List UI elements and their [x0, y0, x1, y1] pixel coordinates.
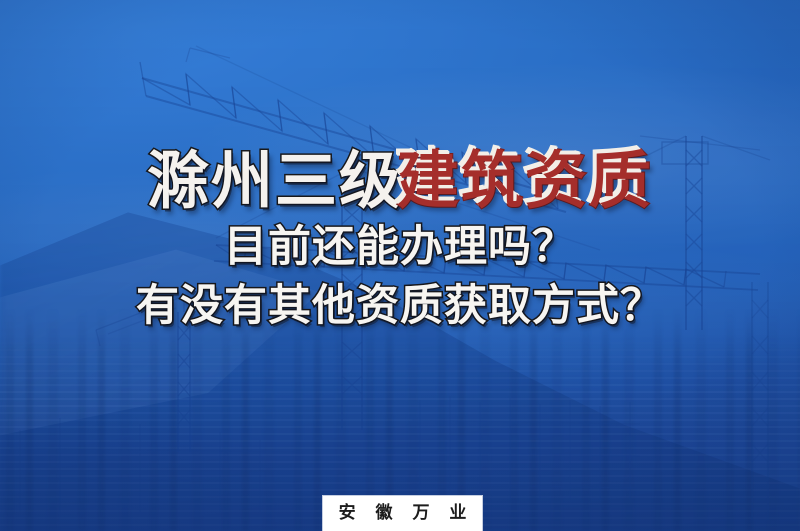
brand-plate: 安 徽 万 业	[323, 496, 482, 531]
poster-canvas: 滁州三级建筑资质 目前还能办理吗？ 有没有其他资质获取方式？ 安 徽 万 业	[0, 0, 800, 531]
headline-white-segment: 滁州三级	[147, 150, 403, 212]
subline-question-1: 目前还能办理吗？	[0, 226, 800, 269]
site-scaffolding	[412, 396, 640, 500]
brand-name: 安 徽 万 业	[332, 505, 474, 522]
subline-question-2: 有没有其他资质获取方式？	[0, 285, 800, 328]
headline-block: 滁州三级建筑资质 目前还能办理吗？ 有没有其他资质获取方式？	[0, 150, 800, 328]
site-buildings-left	[10, 418, 300, 512]
main-headline: 滁州三级建筑资质	[0, 150, 800, 212]
headline-red-segment: 建筑资质	[397, 150, 653, 212]
